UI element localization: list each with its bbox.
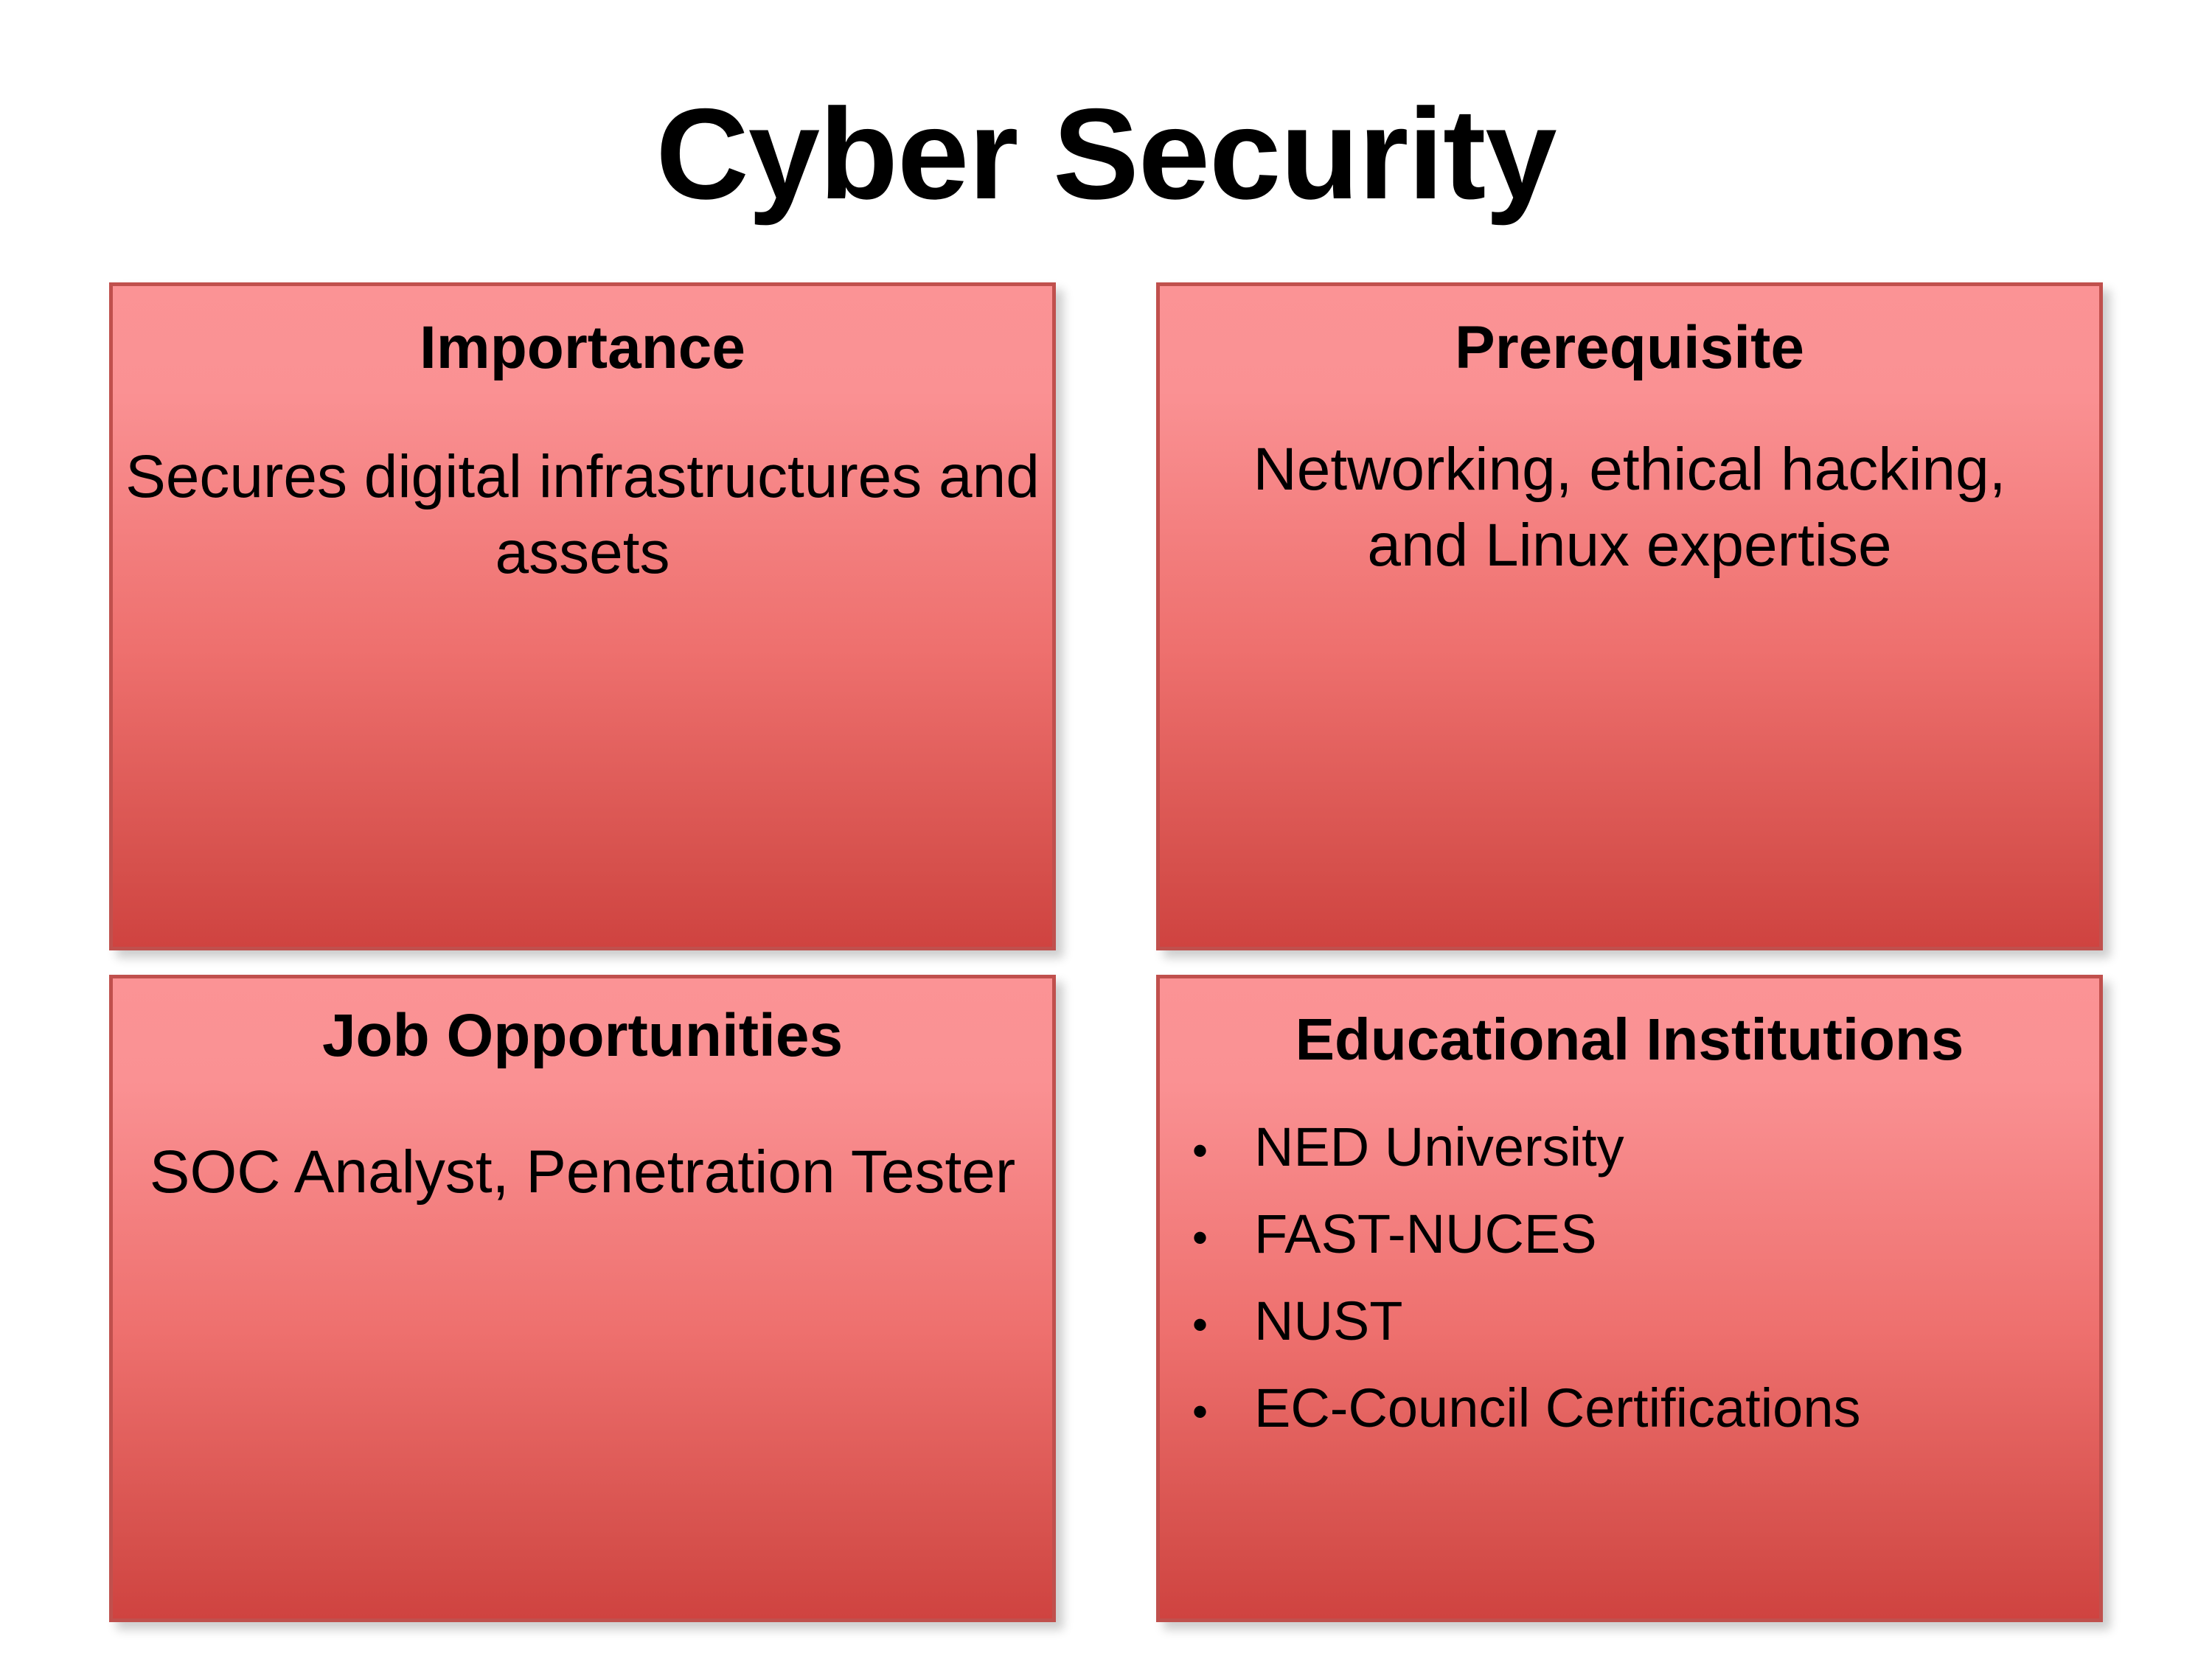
page-title: Cyber Security (0, 87, 2212, 223)
card-prerequisite[interactable]: Prerequisite Networking, ethical hacking… (1156, 282, 2103, 950)
list-item-label: NUST (1254, 1294, 2099, 1349)
card-educational-institutions-heading: Educational Institutions (1160, 1005, 2099, 1074)
bullet-icon: • (1192, 1216, 1254, 1260)
card-prerequisite-body: Networking, ethical hacking, and Linux e… (1160, 431, 2099, 584)
card-importance-heading: Importance (113, 313, 1052, 384)
list-item: •FAST-NUCES (1192, 1207, 2099, 1262)
list-item-label: NED University (1254, 1120, 2099, 1175)
bullet-icon: • (1192, 1303, 1254, 1347)
list-item: •NED University (1192, 1120, 2099, 1175)
card-prerequisite-heading: Prerequisite (1160, 313, 2099, 384)
educational-institutions-list: •NED University•FAST-NUCES•NUST•EC-Counc… (1160, 1120, 2099, 1436)
card-importance-body: Secures digital infrastructures and asse… (113, 439, 1052, 591)
card-job-opportunities[interactable]: Job Opportunities SOC Analyst, Penetrati… (109, 975, 1056, 1622)
list-item: •NUST (1192, 1294, 2099, 1349)
list-item-label: FAST-NUCES (1254, 1207, 2099, 1262)
slide-canvas: Cyber Security Importance Secures digita… (0, 0, 2212, 1659)
card-importance[interactable]: Importance Secures digital infrastructur… (109, 282, 1056, 950)
bullet-icon: • (1192, 1390, 1254, 1434)
card-educational-institutions[interactable]: Educational Institutions •NED University… (1156, 975, 2103, 1622)
list-item: •EC-Council Certifications (1192, 1381, 2099, 1436)
card-job-opportunities-body: SOC Analyst, Penetration Tester (113, 1134, 1052, 1210)
bullet-icon: • (1192, 1129, 1254, 1173)
list-item-label: EC-Council Certifications (1254, 1381, 2099, 1436)
card-job-opportunities-heading: Job Opportunities (113, 1001, 1052, 1072)
